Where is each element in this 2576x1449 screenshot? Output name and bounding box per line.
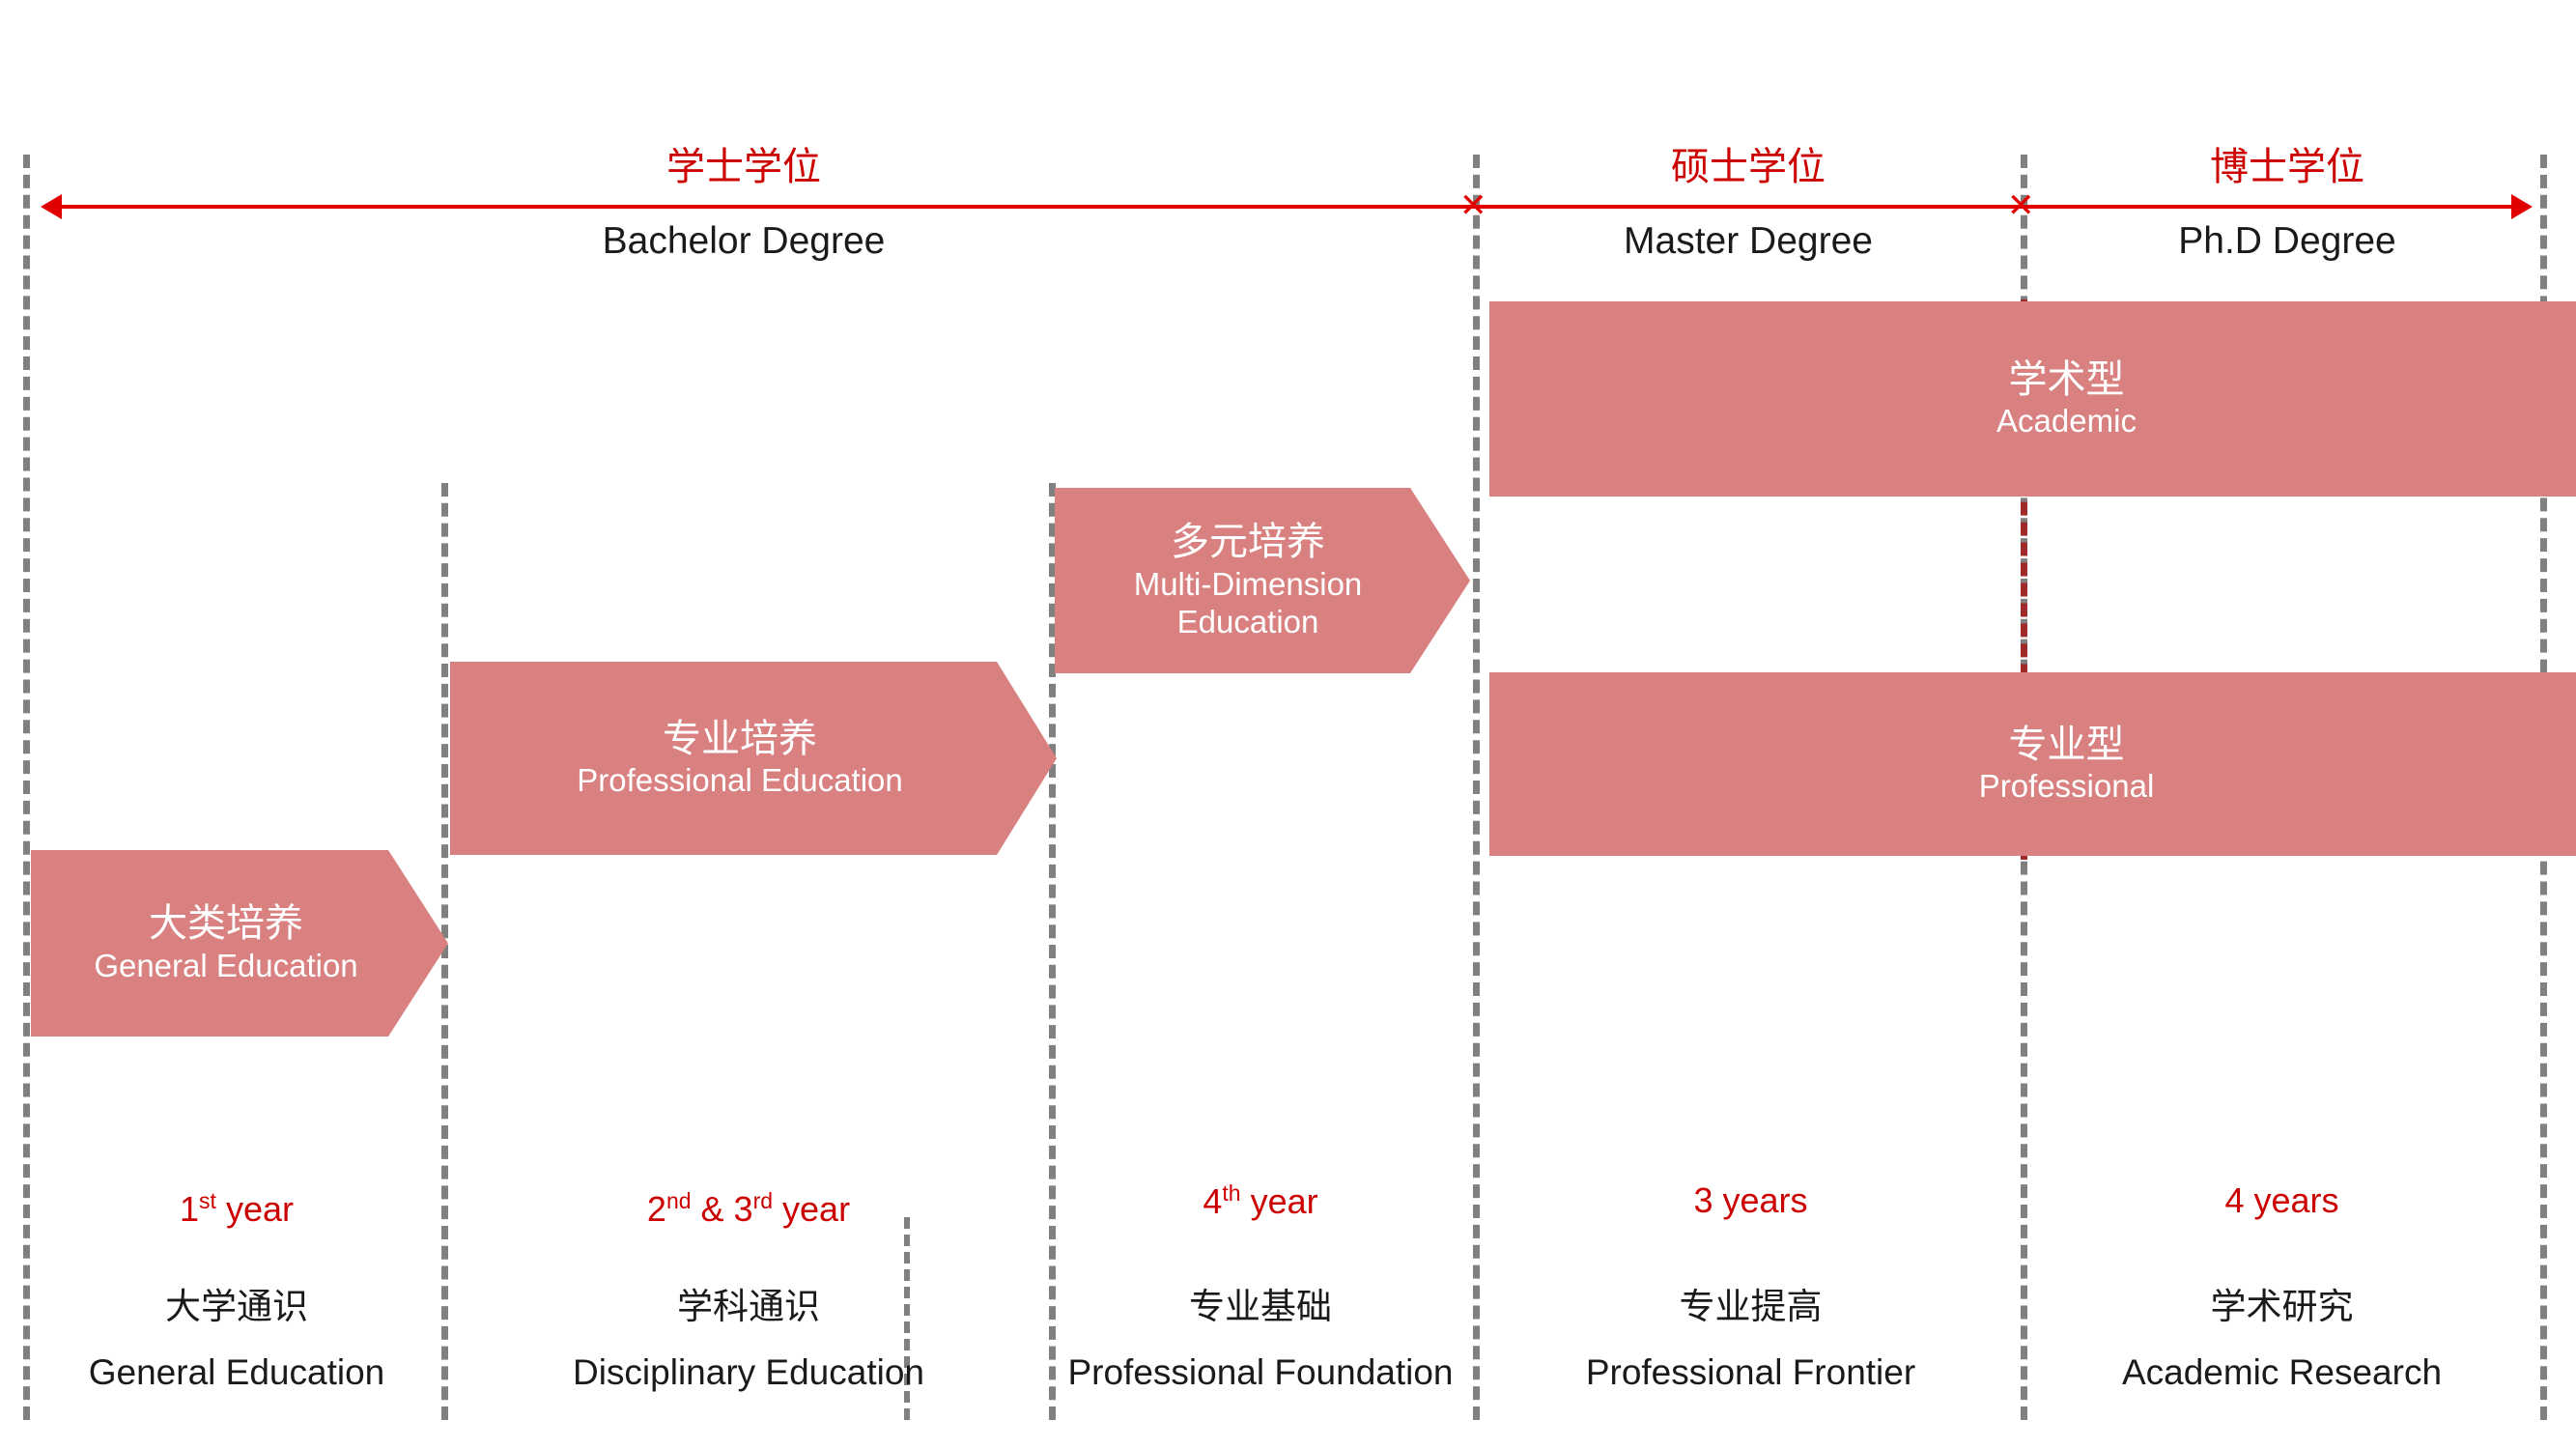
- column-5-label-en: Academic Research: [2019, 1352, 2545, 1393]
- column-1-label-cn: 大学通识: [39, 1277, 435, 1329]
- column-2-duration: 2nd & 3rd year: [454, 1188, 1043, 1230]
- divider-bachelor-master: [1473, 155, 1480, 1420]
- degree-title-phd-cn: 博士学位: [2104, 135, 2471, 191]
- stage-chevron-general-education: 大类培养 General Education: [31, 850, 448, 1037]
- column-1-duration-post: year: [216, 1189, 294, 1229]
- stage-multi-dimension-cn: 多元培养: [1134, 520, 1363, 565]
- timeline-break-marker-2: ✕: [2007, 189, 2035, 222]
- degree-title-bachelor-en: Bachelor Degree: [560, 220, 927, 263]
- column-1-duration: 1st year: [39, 1188, 435, 1230]
- degree-title-master-cn: 硕士学位: [1565, 135, 1932, 191]
- column-3-duration-num: 4: [1203, 1181, 1222, 1221]
- column-4-duration: 3 years: [1487, 1180, 2014, 1221]
- stage-academic-en: Academic: [1996, 403, 2137, 440]
- stage-professional-education-cn: 专业培养: [577, 717, 903, 762]
- divider-year3-year4: [1049, 483, 1056, 1420]
- degree-timeline-arrow: [44, 205, 2527, 209]
- degree-title-master-en: Master Degree: [1565, 220, 1932, 263]
- stage-multi-dimension-en-1: Multi-Dimension: [1134, 566, 1363, 604]
- column-2-label-en: Disciplinary Education: [444, 1352, 1053, 1393]
- column-2-duration-mid: & 3: [692, 1189, 753, 1229]
- column-2-duration-post: year: [773, 1189, 850, 1229]
- divider-left-edge: [23, 155, 30, 1420]
- column-3-label-cn: 专业基础: [1062, 1277, 1458, 1329]
- stage-multi-dimension-en-2: Education: [1134, 604, 1363, 641]
- stage-chevron-academic: 学术型 Academic: [1489, 301, 2576, 497]
- column-3-label-en: Professional Foundation: [1053, 1352, 1468, 1393]
- column-2-label-cn: 学科通识: [454, 1277, 1043, 1329]
- column-5-label-cn: 学术研究: [2028, 1277, 2535, 1329]
- timeline-break-marker-1: ✕: [1459, 189, 1487, 222]
- stage-general-education-cn: 大类培养: [94, 901, 357, 947]
- column-1-duration-num: 1: [180, 1189, 199, 1229]
- timeline-arrow-right-head: [2511, 194, 2533, 219]
- stage-professional-grad-en: Professional: [1979, 768, 2155, 806]
- column-4-label-en: Professional Frontier: [1478, 1352, 2024, 1393]
- diagram-canvas: ✕ ✕ 学士学位 Bachelor Degree 硕士学位 Master Deg…: [0, 0, 2576, 1449]
- degree-title-bachelor-cn: 学士学位: [560, 135, 927, 191]
- stage-chevron-professional-education: 专业培养 Professional Education: [450, 662, 1057, 855]
- column-4-duration-num: 3 years: [1693, 1180, 1807, 1220]
- column-1-duration-sup: st: [199, 1188, 216, 1213]
- stage-chevron-professional-grad: 专业型 Professional: [1489, 672, 2576, 856]
- column-3-duration: 4th year: [1062, 1180, 1458, 1222]
- stage-professional-education-en: Professional Education: [577, 762, 903, 800]
- column-4-label-cn: 专业提高: [1487, 1277, 2014, 1329]
- column-1-label-en: General Education: [19, 1352, 454, 1393]
- column-2-duration-sup2: rd: [753, 1188, 773, 1213]
- stage-general-education-en: General Education: [94, 948, 357, 985]
- column-2-duration-num: 2: [647, 1189, 666, 1229]
- stage-professional-grad-cn: 专业型: [1979, 723, 2155, 768]
- column-5-duration-num: 4 years: [2224, 1180, 2338, 1220]
- degree-title-phd-en: Ph.D Degree: [2104, 220, 2471, 263]
- column-2-duration-sup: nd: [666, 1188, 692, 1213]
- stage-chevron-multi-dimension: 多元培养 Multi-Dimension Education: [1055, 488, 1470, 673]
- column-3-duration-sup: th: [1222, 1180, 1240, 1206]
- timeline-arrow-left-head: [41, 194, 62, 219]
- stage-academic-cn: 学术型: [1996, 357, 2137, 403]
- column-3-duration-post: year: [1241, 1181, 1318, 1221]
- column-5-duration: 4 years: [2028, 1180, 2535, 1221]
